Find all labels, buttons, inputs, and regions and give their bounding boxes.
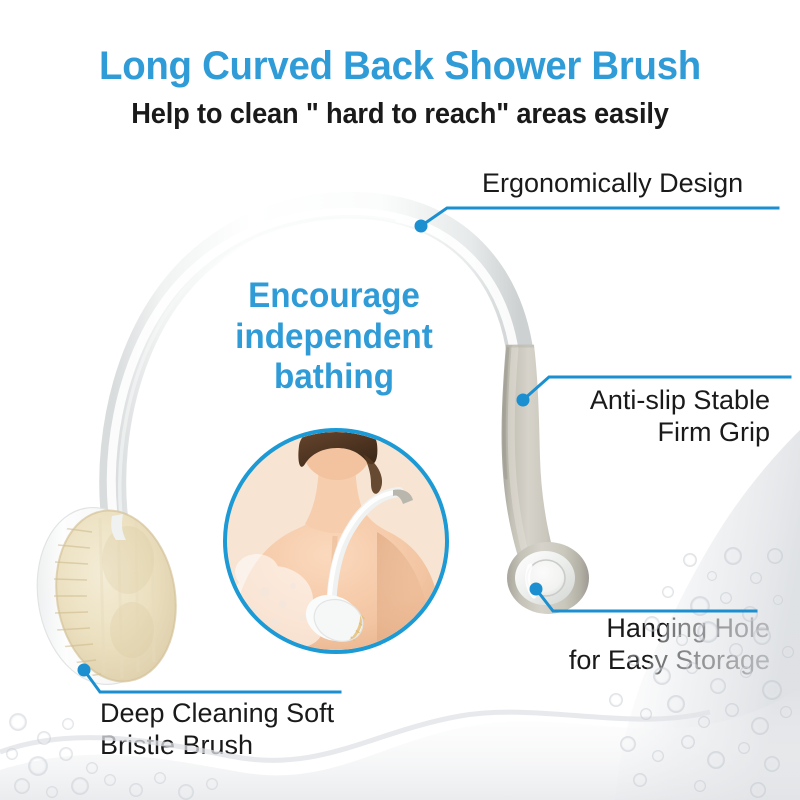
product-illustration	[0, 0, 800, 800]
brush-head	[25, 498, 188, 693]
infographic-canvas: Long Curved Back Shower Brush Help to cl…	[0, 0, 800, 800]
hanging-hole	[507, 542, 589, 614]
usage-photo-art	[227, 432, 445, 650]
usage-photo-inset	[223, 428, 449, 654]
